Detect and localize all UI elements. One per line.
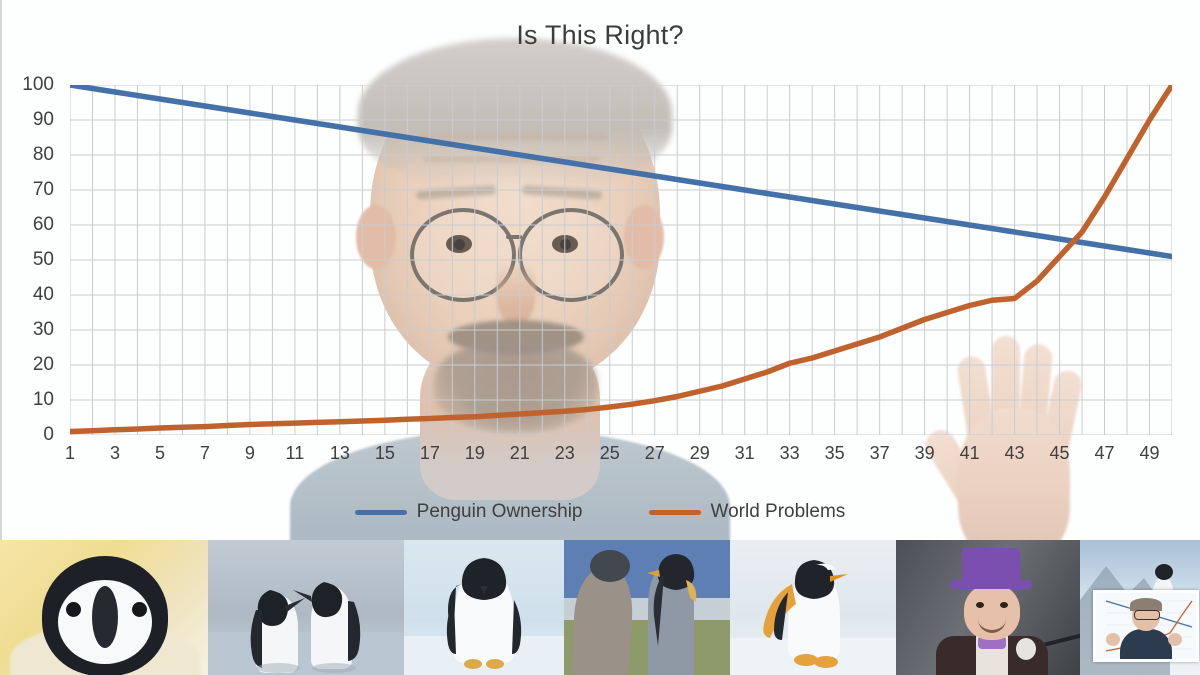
x-axis-tick-label: 7 bbox=[200, 443, 210, 464]
y-axis-tick-label: 10 bbox=[33, 389, 54, 411]
x-axis-tick-label: 13 bbox=[330, 443, 350, 464]
x-axis-tick-label: 27 bbox=[645, 443, 665, 464]
chart-legend: Penguin Ownership World Problems bbox=[0, 495, 1200, 529]
x-axis-tick-label: 5 bbox=[155, 443, 165, 464]
x-axis-tick-label: 29 bbox=[690, 443, 710, 464]
legend-swatch-icon bbox=[355, 510, 407, 515]
top-hat-icon bbox=[962, 548, 1020, 584]
gentoo-penguin-illustration bbox=[730, 540, 896, 675]
penguin-man-eye-left bbox=[976, 602, 984, 608]
y-axis-tick-label: 90 bbox=[33, 109, 54, 131]
x-axis-tick-label: 31 bbox=[735, 443, 755, 464]
y-axis-tick-label: 60 bbox=[33, 214, 54, 236]
penguin-man-eye-right bbox=[1000, 602, 1008, 608]
plot-area bbox=[70, 85, 1172, 435]
y-axis-tick-label: 100 bbox=[22, 74, 54, 96]
x-axis-tick-label: 1 bbox=[65, 443, 75, 464]
chick-eye-left bbox=[66, 602, 81, 617]
thumbnail-presenter-webcam-pip[interactable] bbox=[1080, 540, 1200, 675]
penguin-man-glove bbox=[1016, 638, 1036, 660]
x-axis-tick-label: 45 bbox=[1050, 443, 1070, 464]
y-axis-tick-label: 0 bbox=[43, 424, 54, 446]
pip-presenter-body bbox=[1120, 629, 1172, 661]
chick-face-stripe bbox=[92, 586, 118, 648]
legend-item-world-problems[interactable]: World Problems bbox=[649, 501, 846, 523]
thumbnail-penguin-man-in-top-hat[interactable] bbox=[896, 540, 1080, 675]
x-axis-tick-label: 17 bbox=[420, 443, 440, 464]
x-axis-tick-label: 9 bbox=[245, 443, 255, 464]
thumbnail-two-penguins-touching-beaks[interactable] bbox=[208, 540, 404, 675]
y-axis-tick-label: 40 bbox=[33, 284, 54, 306]
legend-label: World Problems bbox=[711, 501, 846, 523]
pip-presenter-glasses bbox=[1134, 610, 1160, 620]
pip-presenter-hand-left bbox=[1106, 633, 1120, 646]
page-title: Is This Right? bbox=[0, 20, 1200, 51]
filmstrip bbox=[0, 540, 1200, 675]
x-axis-tick-labels: 1357911131517192123252729313335373941434… bbox=[70, 443, 1172, 473]
line-chart: Is This Right? 0102030405060708090100 13… bbox=[0, 0, 1200, 540]
legend-item-penguin-ownership[interactable]: Penguin Ownership bbox=[355, 501, 583, 523]
x-axis-tick-label: 15 bbox=[375, 443, 395, 464]
two-penguins-illustration bbox=[208, 540, 404, 675]
y-axis-tick-label: 20 bbox=[33, 354, 54, 376]
pip-presenter-hand-right bbox=[1168, 633, 1182, 646]
thumbnail-penguin-chick-closeup[interactable] bbox=[0, 540, 208, 675]
pip-webcam-frame bbox=[1093, 590, 1199, 662]
x-axis-tick-label: 21 bbox=[510, 443, 530, 464]
x-axis-tick-label: 11 bbox=[286, 443, 305, 464]
x-axis-tick-label: 33 bbox=[780, 443, 800, 464]
y-axis-tick-label: 50 bbox=[33, 249, 54, 271]
slide-canvas: Is This Right? 0102030405060708090100 13… bbox=[0, 0, 1200, 675]
legend-label: Penguin Ownership bbox=[417, 501, 583, 523]
x-axis-tick-label: 37 bbox=[870, 443, 890, 464]
x-axis-tick-label: 3 bbox=[110, 443, 120, 464]
thumbnail-king-penguin-pair[interactable] bbox=[564, 540, 730, 675]
y-axis-tick-labels: 0102030405060708090100 bbox=[0, 85, 62, 435]
chart-series-lines bbox=[70, 85, 1172, 435]
y-axis-tick-label: 80 bbox=[33, 144, 54, 166]
x-axis-tick-label: 41 bbox=[960, 443, 980, 464]
king-penguin-pair-illustration bbox=[564, 540, 730, 675]
x-axis-tick-label: 35 bbox=[825, 443, 845, 464]
y-axis-tick-label: 30 bbox=[33, 319, 54, 341]
chick-eye-right bbox=[132, 602, 147, 617]
x-axis-tick-label: 43 bbox=[1005, 443, 1025, 464]
y-axis-tick-label: 70 bbox=[33, 179, 54, 201]
x-axis-tick-label: 39 bbox=[915, 443, 935, 464]
x-axis-tick-label: 19 bbox=[465, 443, 485, 464]
legend-swatch-icon bbox=[649, 510, 701, 515]
thumbnail-single-penguin-on-snow[interactable] bbox=[404, 540, 564, 675]
thumbnail-gentoo-penguin-walking[interactable] bbox=[730, 540, 896, 675]
x-axis-tick-label: 49 bbox=[1139, 443, 1159, 464]
single-penguin-illustration bbox=[404, 540, 564, 675]
x-axis-tick-label: 23 bbox=[555, 443, 575, 464]
x-axis-tick-label: 47 bbox=[1095, 443, 1115, 464]
x-axis-tick-label: 25 bbox=[600, 443, 620, 464]
